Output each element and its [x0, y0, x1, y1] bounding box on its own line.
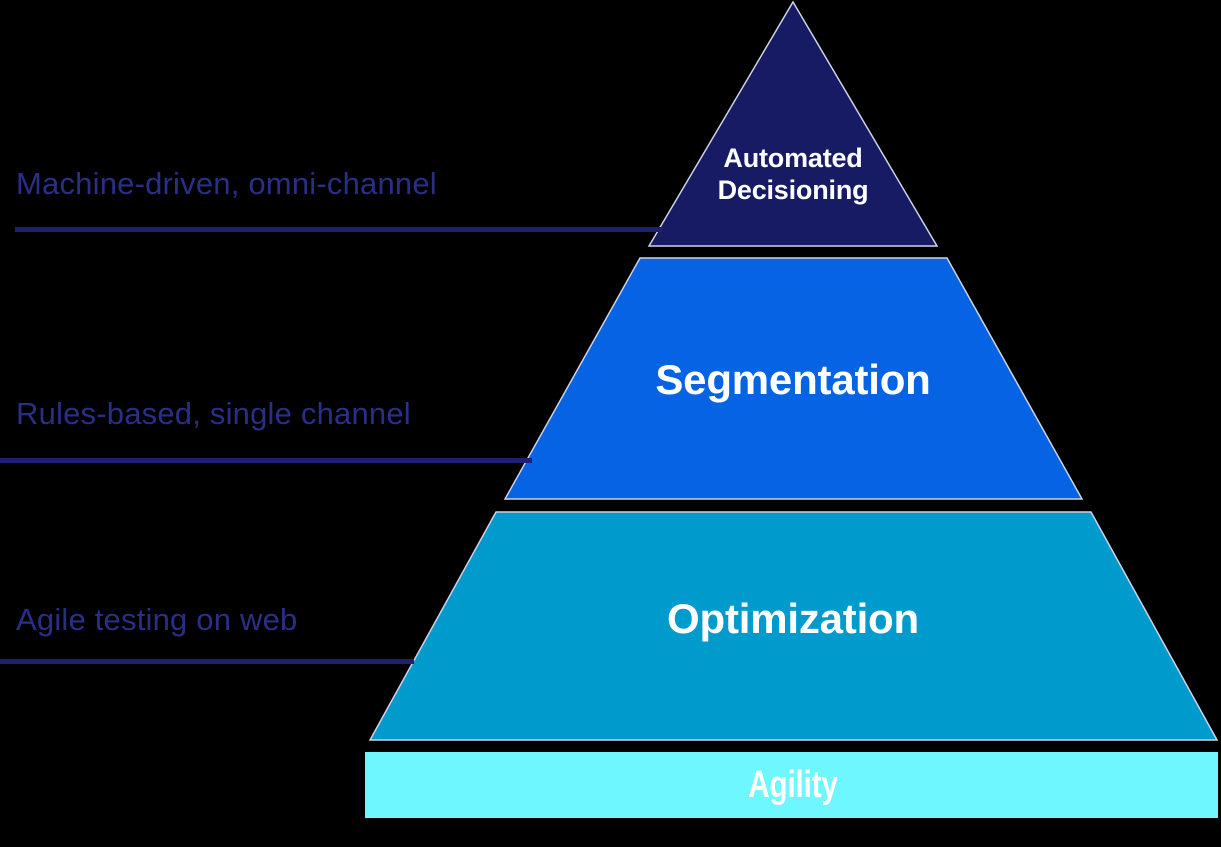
pyramid-tier-3-shape	[370, 512, 1217, 740]
pyramid-tier-2-shape	[505, 258, 1082, 499]
pyramid-tier-1-shape	[649, 2, 937, 246]
side-label-machine-driven: Machine-driven, omni-channel	[16, 166, 437, 202]
pyramid-diagram-canvas: Automated Decisioning Segmentation Optim…	[0, 0, 1221, 847]
pyramid-tier-4-shape	[365, 752, 1218, 818]
connector-line-tier-1	[15, 227, 663, 232]
connector-line-tier-2	[0, 458, 532, 463]
connector-line-tier-3	[0, 659, 414, 664]
side-label-rules-based: Rules-based, single channel	[16, 396, 411, 432]
side-label-agile-testing: Agile testing on web	[16, 602, 297, 638]
